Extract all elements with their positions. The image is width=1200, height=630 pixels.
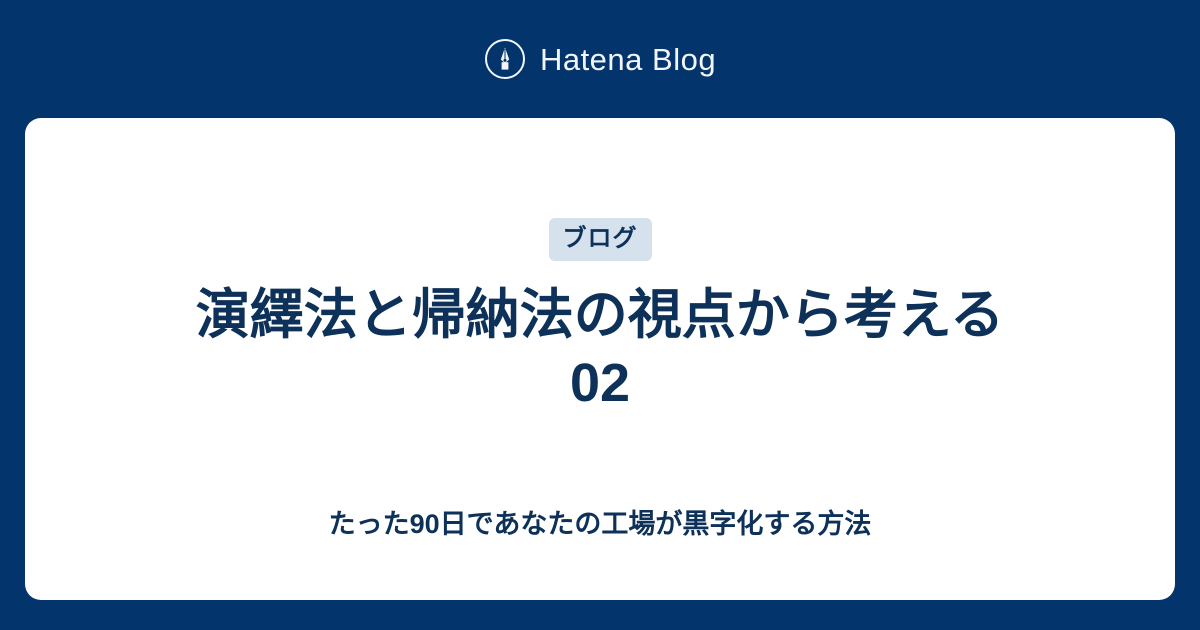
og-image-root: Hatena Blog ブログ 演繹法と帰納法の視点から考える02 たった90日…	[0, 0, 1200, 630]
pen-nib-circle-icon	[484, 38, 526, 80]
entry-card: ブログ 演繹法と帰納法の視点から考える02 たった90日であなたの工場が黒字化す…	[25, 118, 1175, 600]
category-badge[interactable]: ブログ	[549, 218, 652, 261]
blog-subtitle: たった90日であなたの工場が黒字化する方法	[25, 508, 1175, 540]
entry-title: 演繹法と帰納法の視点から考える02	[170, 281, 1030, 417]
hatena-blog-brand: Hatena Blog	[0, 0, 1200, 118]
brand-name-label: Hatena Blog	[540, 44, 716, 75]
